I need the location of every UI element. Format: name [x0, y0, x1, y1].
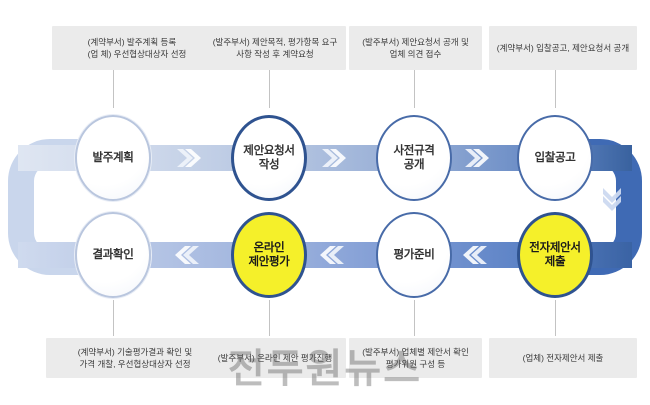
callout-note-result-check-text: (계약부서) 기술평가결과 확인 및 가격 개찰, 우선협상대상자 선정 — [78, 346, 192, 371]
process-flow-diagram: (계약부서) 발주계획 등록 (업 체) 우선협상대상자 선정 (발주부서) 제… — [0, 0, 650, 405]
step-label-eval-prep: 평가준비 — [393, 248, 434, 262]
step-circle-bid-notice[interactable]: 입찰공고 — [517, 115, 593, 201]
chevron-left-icon-3 — [463, 243, 489, 267]
step-label-eproposal-submit: 전자제안서 제출 — [529, 241, 580, 270]
callout-note-bid-notice: (계약부서) 입찰공고, 제안요청서 공개 — [489, 26, 637, 70]
step-circle-result-check[interactable]: 결과확인 — [75, 212, 151, 298]
leader-line-result-check — [113, 300, 114, 336]
chevron-left-icon-1 — [175, 243, 201, 267]
step-circle-prespec-open[interactable]: 사전규격 공개 — [376, 115, 452, 201]
leader-line-bid-notice — [555, 70, 556, 108]
step-circle-order-plan[interactable]: 발주계획 — [75, 115, 151, 201]
leader-line-order-plan — [113, 70, 114, 108]
step-label-bid-notice: 입찰공고 — [534, 151, 575, 165]
step-label-online-eval: 온라인 제안평가 — [248, 241, 289, 270]
callout-note-eproposal-submit-text: (업체) 전자제안서 제출 — [523, 352, 604, 364]
callout-note-eval-prep: (발주부서) 업체별 제안서 확인 평가위원 구성 등 — [349, 338, 482, 378]
step-label-prespec-open: 사전규격 공개 — [393, 144, 434, 173]
leader-line-eval-prep — [414, 300, 415, 336]
chevron-right-icon-3 — [463, 146, 489, 170]
leader-line-online-eval — [269, 300, 270, 336]
callout-note-prespec-text: (발주부서) 제안요청서 공개 및 업체 의견 접수 — [362, 36, 469, 61]
step-label-rfp-write: 제안요청서 작성 — [243, 144, 294, 173]
callout-note-bid-notice-text: (계약부서) 입찰공고, 제안요청서 공개 — [497, 42, 629, 54]
callout-note-result-check: (계약부서) 기술평가결과 확인 및 가격 개찰, 우선협상대상자 선정 — [46, 338, 224, 378]
step-circle-online-eval[interactable]: 온라인 제안평가 — [231, 212, 307, 298]
callout-note-eproposal-submit: (업체) 전자제안서 제출 — [489, 338, 637, 378]
callout-note-rfp-write-text: (발주부서) 제안목적, 평가항목 요구 사항 작성 후 계약요청 — [213, 36, 338, 61]
callout-note-prespec: (발주부서) 제안요청서 공개 및 업체 의견 접수 — [349, 26, 482, 70]
chevron-right-icon-1 — [175, 146, 201, 170]
leader-line-eproposal-submit — [555, 300, 556, 336]
step-label-order-plan: 발주계획 — [92, 151, 133, 165]
leader-line-prespec — [414, 70, 415, 108]
callout-note-order-plan: (계약부서) 발주계획 등록 (업 체) 우선협상대상자 선정 — [52, 26, 222, 70]
step-circle-eproposal-submit[interactable]: 전자제안서 제출 — [517, 212, 593, 298]
callout-note-order-plan-text: (계약부서) 발주계획 등록 (업 체) 우선협상대상자 선정 — [88, 36, 187, 61]
callout-note-eval-prep-text: (발주부서) 업체별 제안서 확인 평가위원 구성 등 — [362, 346, 469, 371]
callout-note-rfp-write: (발주부서) 제안목적, 평가항목 요구 사항 작성 후 계약요청 — [204, 26, 346, 70]
step-circle-rfp-write[interactable]: 제안요청서 작성 — [231, 115, 307, 201]
step-circle-eval-prep[interactable]: 평가준비 — [376, 212, 452, 298]
step-label-result-check: 결과확인 — [92, 248, 133, 262]
leader-line-rfp-write — [269, 70, 270, 108]
chevron-right-icon-2 — [320, 146, 346, 170]
chevron-down-icon — [600, 186, 624, 212]
chevron-left-icon-2 — [320, 243, 346, 267]
callout-note-online-eval: (발주부서) 온라인 제안 평가진행 — [204, 338, 346, 378]
callout-note-online-eval-text: (발주부서) 온라인 제안 평가진행 — [218, 352, 332, 364]
